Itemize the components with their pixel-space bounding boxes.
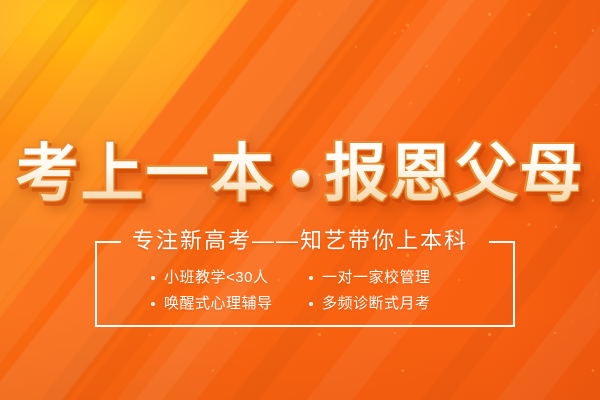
subtitle: 专注新高考——知艺带你上本科 [0, 227, 600, 255]
headline-right: 报恩父母 [325, 139, 585, 209]
frame-edge-bottom [95, 325, 515, 327]
bullet-dot-icon [309, 302, 313, 306]
feature-item: 多频诊断式月考 [309, 294, 459, 314]
feature-label: 一对一家校管理 [322, 268, 431, 288]
feature-item: 一对一家校管理 [309, 268, 459, 288]
headline: 考上一本报恩父母 [0, 139, 600, 209]
feature-label: 唤醒式心理辅导 [164, 294, 273, 314]
feature-list: 小班教学<30人 一对一家校管理 唤醒式心理辅导 多频诊断式月考 [95, 266, 515, 316]
feature-item: 小班教学<30人 [151, 268, 301, 288]
feature-item: 唤醒式心理辅导 [151, 294, 301, 314]
bullet-dot-icon [151, 302, 155, 306]
feature-label: 小班教学<30人 [164, 268, 268, 288]
bullet-dot-icon [309, 276, 313, 280]
bullet-dot-icon [151, 276, 155, 280]
promo-banner: 考上一本报恩父母 专注新高考——知艺带你上本科 小班教学<30人 一对一家校管理… [0, 0, 600, 400]
headline-left: 考上一本 [16, 139, 276, 209]
headline-separator-dot [292, 170, 309, 187]
feature-label: 多频诊断式月考 [322, 294, 431, 314]
